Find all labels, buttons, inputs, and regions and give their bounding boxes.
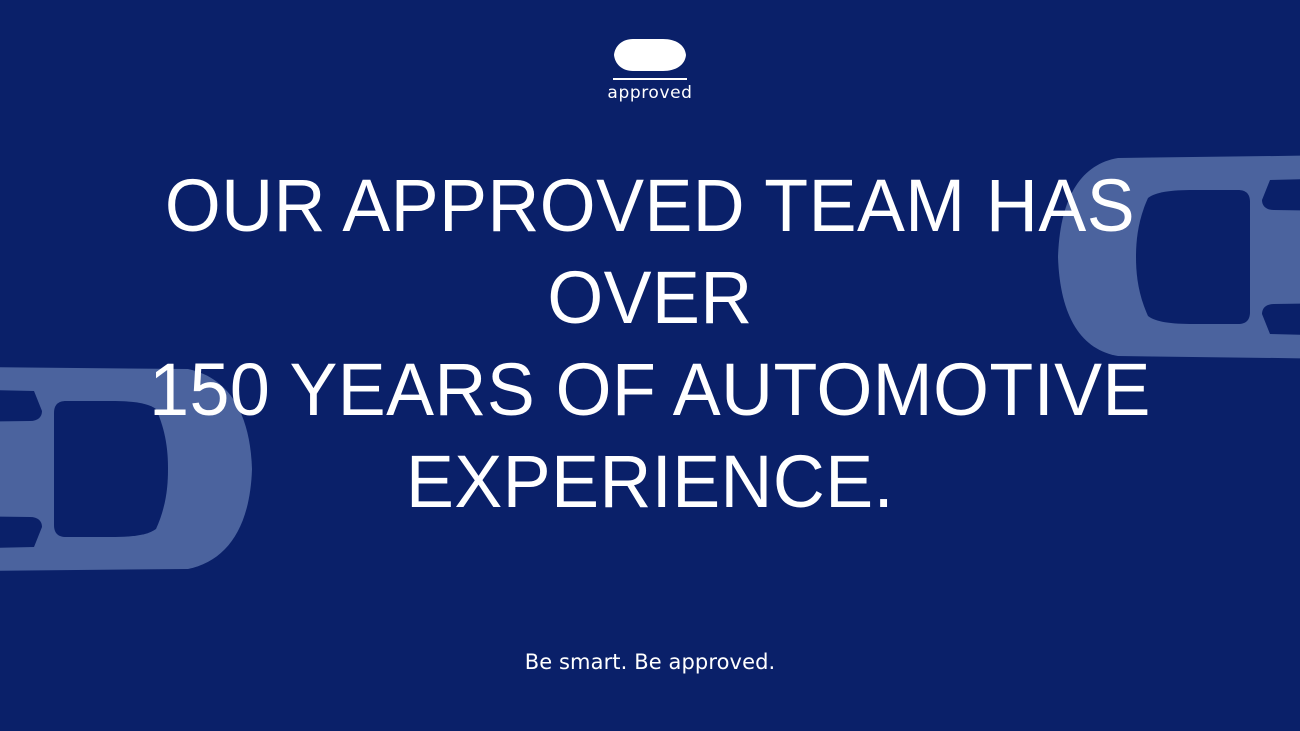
tagline: Be smart. Be approved. [0,652,1300,673]
slide-canvas: approved OUR APPROVED TEAM HAS OVER 150 … [0,0,1300,731]
page-title: OUR APPROVED TEAM HAS OVER 150 YEARS OF … [107,160,1193,528]
logo-divider [613,78,687,80]
logo-wordmark: approved [607,85,692,102]
brand-logo: approved [0,38,1300,102]
slide-content: OUR APPROVED TEAM HAS OVER 150 YEARS OF … [0,0,1300,731]
car-top-view-icon [613,38,687,72]
